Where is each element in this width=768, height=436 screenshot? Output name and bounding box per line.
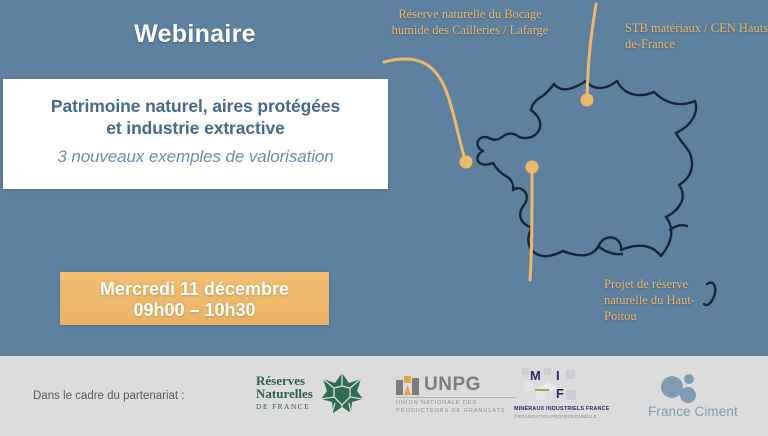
annotation-cailleries: Réserve naturelle du Bocage humide des C… (385, 6, 555, 38)
quarry-blocks-icon (396, 376, 422, 396)
date-time-badge: Mercredi 11 décembre 09h00 – 10h30 (60, 272, 329, 325)
mif-subtitle: MINÉRAUX INDUSTRIELS FRANCE ORGANISATION… (514, 406, 634, 420)
webinar-announcement-slide: Webinaire Patrimoine naturel, aires prot… (0, 0, 768, 436)
headline-line-2: et industrie extractive (106, 118, 285, 138)
marker-stb[interactable] (581, 94, 594, 107)
connector-stb (587, 4, 596, 98)
subheadline-text: 3 nouveaux exemples de valorisation (3, 147, 388, 167)
unpg-wordmark: UNPG (424, 374, 481, 396)
green-star-leaf-icon (320, 372, 364, 414)
mif-emblem-icon: M I F (522, 368, 584, 402)
three-circles-icon (656, 374, 702, 404)
unpg-subtitle: UNION NATIONALE DES PRODUCTEURS DE GRANU… (396, 397, 516, 415)
rnf-line-2: Naturelles (256, 388, 322, 401)
headline-card: Patrimoine naturel, aires protégées et i… (3, 79, 388, 189)
annotation-stb: STB matériaux / CEN Hauts-de-France (625, 20, 768, 52)
connector-cailleries (384, 59, 465, 159)
rnf-line-3: DE FRANCE (256, 401, 322, 414)
connector-poitou (530, 170, 532, 280)
logo-unpg: UNPG UNION NATIONALE DES PRODUCTEURS DE … (396, 374, 516, 416)
logo-reserves-naturelles-de-france: Réserves Naturelles DE FRANCE (256, 372, 366, 416)
logo-france-ciment: France Ciment (648, 374, 758, 416)
annotation-haut-poitou: Projet de réserve naturelle du Haut-Poit… (604, 276, 724, 324)
rnf-wordmark: Réserves Naturelles DE FRANCE (256, 375, 322, 414)
map-connector-lines (384, 4, 596, 280)
mif-letter-i: I (556, 368, 560, 383)
headline-line-1: Patrimoine naturel, aires protégées (51, 96, 340, 116)
headline-text: Patrimoine naturel, aires protégées et i… (3, 95, 388, 139)
logo-mineraux-industriels-france: M I F MINÉRAUX INDUSTRIELS FRANCE ORGANI… (522, 368, 628, 416)
partnership-label: Dans le cadre du partenariat : (33, 390, 185, 402)
date-time-text: 09h00 – 10h30 (60, 300, 329, 321)
mif-subtitle-main: MINÉRAUX INDUSTRIELS FRANCE (514, 406, 610, 412)
marker-cailleries[interactable] (460, 156, 473, 169)
mif-subtitle-secondary: ORGANISATION PROFESSIONNELLE (514, 413, 634, 420)
mif-letter-m: M (530, 368, 541, 383)
france-ciment-wordmark: France Ciment (648, 404, 752, 419)
kicker-title: Webinaire (0, 20, 390, 49)
mif-letter-f: F (556, 386, 564, 401)
slide-stage: Webinaire Patrimoine naturel, aires prot… (0, 0, 768, 356)
date-day-text: Mercredi 11 décembre (60, 279, 329, 300)
france-outline-icon (477, 81, 715, 305)
marker-poitou[interactable] (526, 161, 539, 174)
